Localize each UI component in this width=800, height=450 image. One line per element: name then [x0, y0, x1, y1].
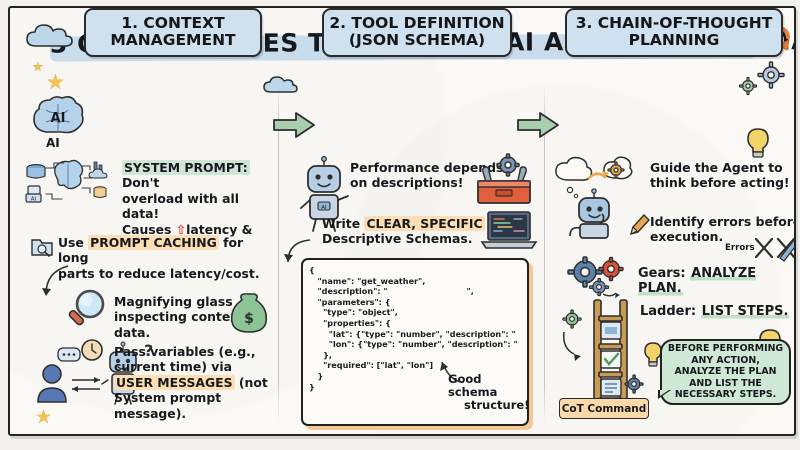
good-schema-note: Good schemastructure! — [448, 373, 534, 412]
cross-mark-icon — [754, 234, 796, 262]
svg-text:AI: AI — [31, 197, 37, 203]
analyze-plan-highlight: ANALYZE PLAN. — [638, 266, 756, 296]
whiteboard-canvas: 3 GOLDEN RULES TO OPTIMIZE AI AGENT PERF… — [8, 6, 796, 436]
gear-icon — [623, 373, 645, 395]
star-icon: ★ — [46, 70, 65, 94]
column-header-context-management[interactable]: 1. CONTEXTMANAGEMENT — [84, 8, 262, 57]
cot-command-bubble: BEFORE PERFORMING ANY ACTION, ANALYZE TH… — [660, 339, 791, 405]
column-divider — [544, 86, 545, 422]
ladder-list-steps-text: Ladder: LIST STEPS. — [640, 304, 789, 319]
money-bag-icon: $ — [230, 292, 268, 334]
column-header-tool-definition[interactable]: 2. TOOL DEFINITION(JSON SCHEMA) — [322, 8, 512, 57]
system-prompt-highlight: SYSTEM PROMPT: — [122, 160, 250, 175]
star-icon: ★ — [32, 60, 44, 75]
curved-arrow-icon — [560, 330, 586, 362]
list-steps-highlight: LIST STEPS. — [701, 304, 790, 319]
prompt-caching-highlight: PROMPT CACHING — [88, 235, 219, 250]
clear-specific-highlight: CLEAR, SPECIFIC — [364, 216, 484, 231]
lightbulb-icon — [743, 126, 773, 160]
svg-text:AI: AI — [321, 205, 327, 211]
green-arrow-icon — [516, 104, 564, 134]
errors-label: Errors — [725, 243, 755, 253]
user-messages-text: Pass variables (e.g., current time) via … — [114, 344, 274, 421]
column-header-chain-of-thought[interactable]: 3. CHAIN-OF-THOUGHTPLANNING — [565, 8, 783, 57]
laptop-code-icon — [480, 210, 538, 256]
gear-icon — [756, 60, 786, 90]
brain-caption: AI — [46, 136, 60, 150]
green-arrow-icon — [272, 104, 320, 134]
user-messages-highlight: USER MESSAGES — [114, 375, 235, 390]
gear-icon — [567, 256, 633, 300]
ladder-icon — [586, 300, 638, 412]
column-divider — [278, 86, 279, 422]
gears-analyze-plan-text: Gears: ANALYZE PLAN. — [638, 266, 794, 297]
cache-folder-icon — [30, 234, 54, 258]
brain-icon: AI — [32, 96, 84, 136]
prompt-caching-text: Use PROMPT CACHING for long parts to red… — [58, 235, 268, 281]
bubble-tail — [658, 390, 671, 399]
svg-text:$: $ — [244, 311, 254, 327]
gear-icon — [561, 308, 583, 330]
cot-command-tag: CoT Command — [559, 398, 649, 419]
guide-agent-text: Guide the Agent tothink before acting! — [650, 160, 796, 191]
toolbox-icon — [472, 152, 534, 208]
context-network-icon: AI — [24, 158, 116, 203]
svg-text:AI: AI — [51, 111, 66, 126]
cloud-icon — [263, 76, 303, 96]
gear-icon — [738, 76, 758, 96]
magnifying-glass-icon — [64, 288, 108, 334]
clear-specific-text: Write CLEAR, SPECIFIC Descriptive Schema… — [322, 216, 492, 247]
pencil-icon — [627, 212, 649, 238]
cloud-icon — [26, 24, 80, 52]
